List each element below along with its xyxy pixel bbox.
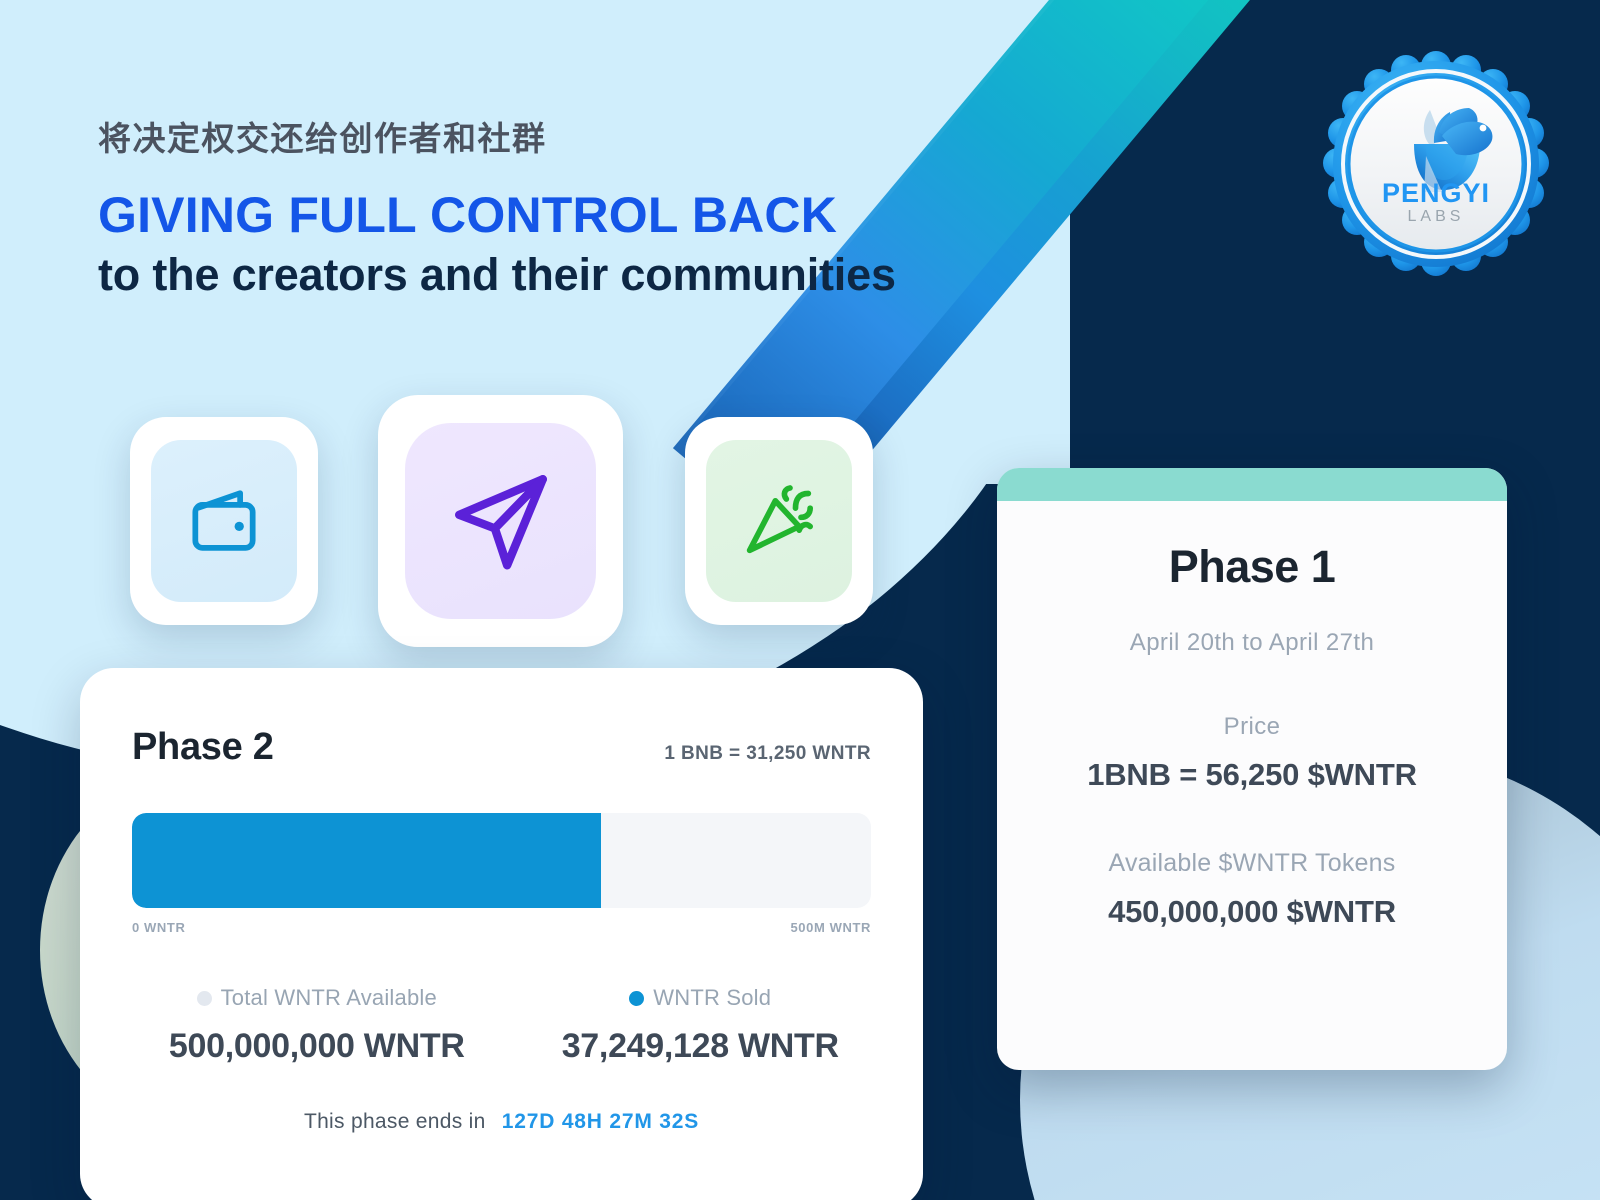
phase2-bar-max-label: 500M WNTR <box>790 920 871 935</box>
legend-item-sold: WNTR Sold 37,249,128 WNTR <box>502 985 872 1066</box>
phase2-countdown: This phase ends in 127D 48H 27M 32S <box>132 1110 871 1134</box>
tile-inner-celebrate <box>706 440 853 602</box>
legend-total-label: Total WNTR Available <box>221 985 437 1011</box>
phase1-accent-bar <box>997 468 1507 501</box>
phase1-price-value: 1BNB = 56,250 $WNTR <box>997 757 1507 793</box>
feature-tile-celebrate[interactable] <box>685 417 873 625</box>
badge-sub-text: LABS <box>1318 208 1554 226</box>
headline-chinese: 将决定权交还给创作者和社群 <box>98 118 1098 161</box>
phase2-rate: 1 BNB = 31,250 WNTR <box>664 743 871 765</box>
phase1-available-value: 450,000,000 $WNTR <box>997 894 1507 930</box>
phase2-bar-min-label: 0 WNTR <box>132 920 185 935</box>
badge-brand-text: PENGYI <box>1318 178 1554 209</box>
feature-tile-row <box>130 395 873 647</box>
phase2-progress-labels: 0 WNTR 500M WNTR <box>132 920 871 935</box>
legend-sold-label: WNTR Sold <box>653 985 771 1011</box>
feature-tile-send[interactable] <box>378 395 623 647</box>
feature-tile-wallet[interactable] <box>130 417 318 625</box>
phase2-header: Phase 2 1 BNB = 31,250 WNTR <box>132 726 871 769</box>
phase2-progress-fill <box>132 813 601 908</box>
countdown-label: This phase ends in <box>304 1110 486 1133</box>
phase1-dates: April 20th to April 27th <box>997 629 1507 657</box>
legend-dot-blue-icon <box>629 991 644 1006</box>
phase2-progress-wrap: 0 WNTR 500M WNTR <box>132 813 871 935</box>
phase2-progress-track <box>132 813 871 908</box>
tile-inner-wallet <box>151 440 298 602</box>
headline-secondary: to the creators and their communities <box>98 250 1098 300</box>
badge-seal-icon <box>1318 48 1554 284</box>
legend-dot-grey-icon <box>197 991 212 1006</box>
tile-inner-send <box>405 423 596 620</box>
paper-plane-icon <box>442 462 560 580</box>
phase2-legend: Total WNTR Available 500,000,000 WNTR WN… <box>132 985 871 1066</box>
wallet-icon <box>181 478 267 564</box>
legend-sold-head: WNTR Sold <box>530 985 872 1011</box>
legend-total-head: Total WNTR Available <box>132 985 502 1011</box>
phase1-price-label: Price <box>997 713 1507 741</box>
party-popper-icon <box>735 477 823 565</box>
legend-item-total: Total WNTR Available 500,000,000 WNTR <box>132 985 502 1066</box>
legend-sold-value: 37,249,128 WNTR <box>530 1027 872 1066</box>
headline-primary: GIVING FULL CONTROL BACK <box>98 189 1098 242</box>
phase1-card: Phase 1 April 20th to April 27th Price 1… <box>997 468 1507 1070</box>
phase2-card: Phase 2 1 BNB = 31,250 WNTR 0 WNTR 500M … <box>80 668 923 1200</box>
headline-block: 将决定权交还给创作者和社群 GIVING FULL CONTROL BACK t… <box>98 118 1098 299</box>
countdown-value: 127D 48H 27M 32S <box>502 1110 699 1133</box>
phase1-available-label: Available $WNTR Tokens <box>997 849 1507 878</box>
poster-canvas: 将决定权交还给创作者和社群 GIVING FULL CONTROL BACK t… <box>0 0 1600 1200</box>
legend-total-value: 500,000,000 WNTR <box>132 1027 502 1066</box>
phase1-title: Phase 1 <box>997 541 1507 593</box>
phase2-title: Phase 2 <box>132 726 274 769</box>
pengyi-labs-badge: PENGYI LABS <box>1318 48 1554 284</box>
